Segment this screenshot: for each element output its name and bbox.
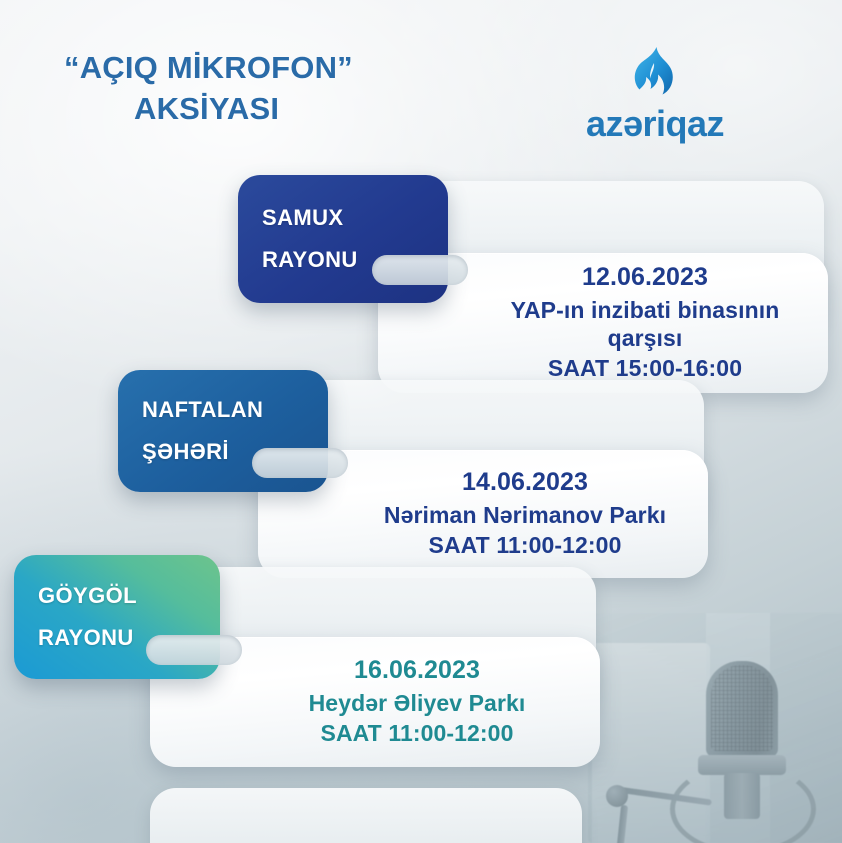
- region-name-line-1: NAFTALAN: [142, 389, 328, 431]
- title-line-2: AKSİYASI: [58, 89, 478, 130]
- event-place: Heydər Əliyev Parkı: [309, 689, 526, 717]
- title-line-1: “AÇIQ MİKROFON”: [58, 48, 478, 89]
- event-place: YAP-ın inzibati binasının qarşısı: [488, 296, 802, 352]
- page-title: “AÇIQ MİKROFON” AKSİYASI: [58, 48, 478, 130]
- card-connector-notch: [252, 448, 348, 478]
- logo-wordmark: azəriqaz: [540, 106, 770, 142]
- event-date: 14.06.2023: [462, 467, 588, 498]
- event-time: SAAT 11:00-12:00: [321, 719, 514, 747]
- card-connector-notch: [146, 635, 242, 665]
- flame-icon: [627, 46, 683, 104]
- region-name-line-1: GÖYGÖL: [38, 575, 220, 617]
- card-connector-notch: [372, 255, 468, 285]
- region-name-line-1: SAMUX: [262, 197, 448, 239]
- event-date: 16.06.2023: [354, 655, 480, 686]
- card-backing: [150, 788, 582, 843]
- event-row-goygol: 16.06.2023 Heydər Əliyev Parkı SAAT 11:0…: [0, 555, 842, 795]
- brand-logo: azəriqaz: [540, 46, 770, 142]
- event-date: 12.06.2023: [582, 262, 708, 293]
- header: “AÇIQ MİKROFON” AKSİYASI azəriqaz: [0, 40, 842, 170]
- event-row-partial: [0, 788, 842, 843]
- event-place: Nəriman Nərimanov Parkı: [384, 501, 666, 529]
